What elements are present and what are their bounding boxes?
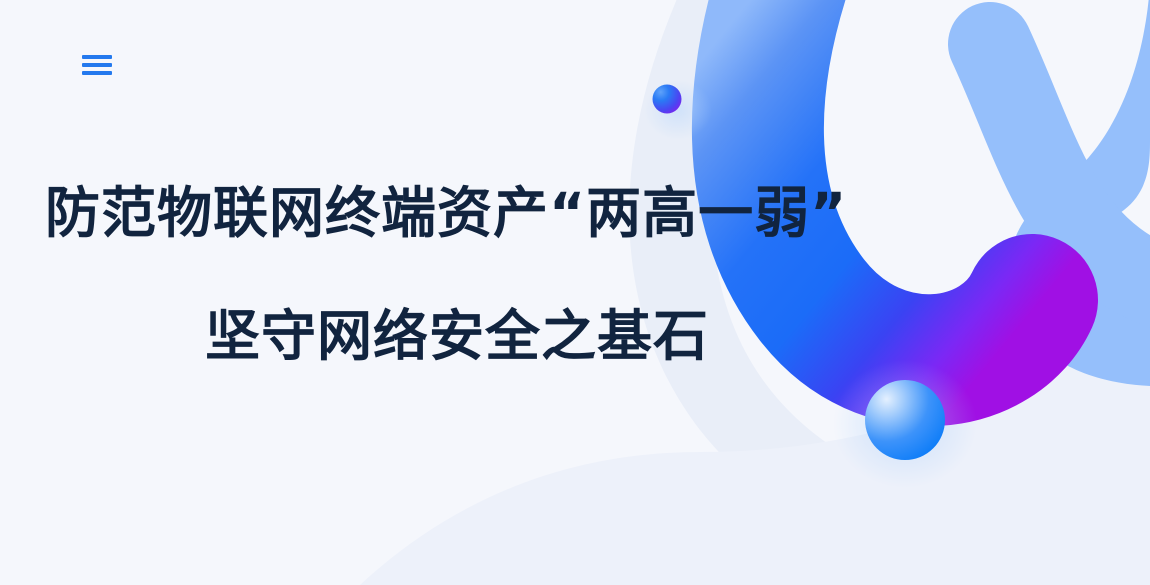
sphere-small-glow <box>644 80 712 140</box>
light-blue-arc <box>1008 0 1150 386</box>
sphere-small <box>653 85 682 114</box>
title-line-secondary: 坚守网络安全之基石 <box>205 309 900 364</box>
hamburger-menu-icon-bar-2 <box>82 63 112 67</box>
hamburger-menu-icon-bar-1 <box>82 55 112 59</box>
sphere-large-glow <box>833 360 977 488</box>
hamburger-menu-icon-bar-3 <box>82 71 112 75</box>
light-blue-arc-band <box>990 44 1150 303</box>
sphere-large <box>865 380 945 460</box>
slide-canvas: 防范物联网终端资产“两高一弱” 坚守网络安全之基石 <box>0 0 1150 585</box>
title-line-primary: 防范物联网终端资产“两高一弱” <box>45 186 900 241</box>
page-title: 防范物联网终端资产“两高一弱” 坚守网络安全之基石 <box>0 186 900 364</box>
hamburger-menu-button[interactable] <box>82 48 116 82</box>
